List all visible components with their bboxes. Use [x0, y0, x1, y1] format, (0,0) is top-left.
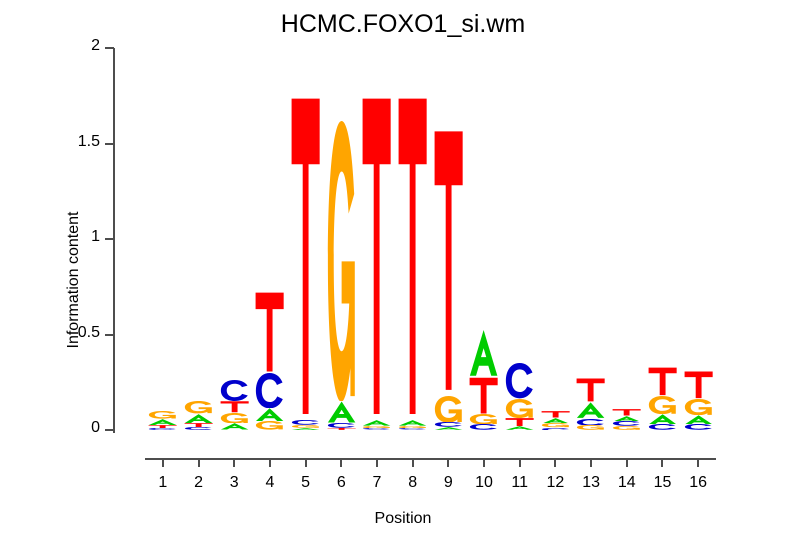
logo-letter-g	[612, 426, 641, 430]
logo-letter-t	[148, 425, 177, 428]
logo-letter-g	[291, 425, 320, 428]
x-tick	[697, 458, 699, 467]
logo-letter-c	[327, 423, 356, 428]
y-tick-label: 1	[40, 228, 100, 246]
x-tick-label: 13	[571, 474, 611, 492]
x-tick-label: 6	[321, 474, 361, 492]
logo-letter-t	[648, 367, 677, 396]
logo-stack	[505, 363, 534, 430]
logo-letter-g	[184, 401, 213, 413]
x-tick	[412, 458, 414, 467]
logo-stack	[184, 401, 213, 430]
x-tick-label: 8	[393, 474, 433, 492]
x-tick-label: 9	[428, 474, 468, 492]
x-tick-label: 4	[250, 474, 290, 492]
y-tick	[105, 47, 114, 49]
logo-letter-a	[469, 329, 498, 377]
logo-letter-c	[469, 424, 498, 430]
logo-letter-t	[684, 371, 713, 399]
logo-letter-g	[327, 121, 356, 402]
logo-letter-g	[576, 425, 605, 430]
logo-letter-g	[541, 423, 570, 427]
x-tick	[554, 458, 556, 467]
logo-stack	[648, 367, 677, 430]
logo-letter-g	[220, 413, 249, 424]
logo-stack	[291, 92, 320, 430]
logo-stack	[612, 409, 641, 430]
logo-letter-c	[184, 427, 213, 430]
logo-letter-t	[362, 92, 391, 421]
y-tick-label: 0.5	[40, 324, 100, 342]
y-tick	[105, 334, 114, 336]
logo-letter-a	[434, 427, 463, 430]
logo-stack	[541, 411, 570, 430]
logo-stack	[362, 92, 391, 430]
logo-letter-a	[362, 420, 391, 426]
logo-letter-a	[684, 415, 713, 425]
y-tick	[105, 429, 114, 431]
logo-letter-a	[541, 418, 570, 424]
x-tick	[447, 458, 449, 467]
logo-stack	[255, 291, 284, 430]
x-tick-label: 7	[357, 474, 397, 492]
logo-letter-t	[434, 126, 463, 395]
logo-letter-a	[398, 420, 427, 426]
x-tick	[590, 458, 592, 467]
logo-letter-a	[291, 428, 320, 430]
x-tick	[340, 458, 342, 467]
logo-letter-c	[362, 428, 391, 430]
x-tick	[305, 458, 307, 467]
logo-letter-a	[220, 423, 249, 430]
logo-letter-a	[184, 414, 213, 423]
y-tick	[105, 143, 114, 145]
logo-letter-c	[505, 363, 534, 398]
logo-letter-c	[220, 380, 249, 401]
x-tick-label: 14	[607, 474, 647, 492]
logo-stack	[398, 92, 427, 430]
logo-letter-a	[327, 401, 356, 423]
logo-letter-t	[327, 428, 356, 430]
x-tick	[376, 458, 378, 467]
logo-letter-c	[398, 428, 427, 430]
x-tick-label: 16	[678, 474, 718, 492]
y-axis-label-wrap: Information content	[28, 0, 52, 559]
y-tick	[105, 238, 114, 240]
logo-letter-a	[576, 402, 605, 418]
logo-letter-g	[648, 396, 677, 414]
logo-letter-c	[541, 428, 570, 430]
logo-letter-t	[505, 418, 534, 427]
logo-letter-t	[576, 378, 605, 402]
logo-letter-c	[684, 424, 713, 430]
x-tick-label: 15	[642, 474, 682, 492]
y-tick-label: 0	[40, 419, 100, 437]
logo-letter-g	[505, 399, 534, 418]
logo-letter-g	[255, 421, 284, 430]
logo-letter-c	[148, 428, 177, 430]
logo-letter-t	[220, 401, 249, 412]
logo-stack	[327, 121, 356, 430]
x-axis-label: Position	[0, 510, 806, 528]
logo-letter-g	[148, 411, 177, 419]
x-tick	[269, 458, 271, 467]
page-title: HCMC.FOXO1_si.wm	[0, 10, 806, 39]
x-tick	[626, 458, 628, 467]
logo-stack	[576, 378, 605, 430]
logo-stack	[469, 329, 498, 430]
logo-letter-c	[576, 419, 605, 426]
logo-letter-g	[362, 426, 391, 428]
logo-letter-g	[469, 414, 498, 425]
logo-letter-t	[541, 411, 570, 418]
logo-letter-t	[255, 291, 284, 373]
logo-letter-c	[434, 422, 463, 427]
x-tick-label: 3	[214, 474, 254, 492]
x-axis-line	[145, 458, 716, 460]
logo-letter-c	[648, 424, 677, 430]
y-tick-label: 1.5	[40, 133, 100, 151]
logo-letter-g	[398, 426, 427, 428]
logo-letter-t	[398, 92, 427, 421]
sequence-logo-plot: HCMC.FOXO1_si.wm Information content 00.…	[0, 0, 806, 559]
logo-stack	[684, 371, 713, 430]
x-tick-label: 2	[179, 474, 219, 492]
logo-stack	[434, 126, 463, 430]
logo-letter-g	[434, 396, 463, 423]
logo-stack	[220, 380, 249, 430]
logo-letter-a	[505, 426, 534, 430]
logo-letter-a	[612, 416, 641, 422]
x-tick	[198, 458, 200, 467]
x-tick	[519, 458, 521, 467]
logo-letter-t	[469, 377, 498, 414]
x-tick	[162, 458, 164, 467]
logo-letter-c	[291, 420, 320, 425]
logo-letter-t	[184, 423, 213, 427]
x-tick-label: 5	[286, 474, 326, 492]
logo-letter-a	[648, 414, 677, 425]
y-axis-line	[113, 48, 115, 433]
x-tick	[661, 458, 663, 467]
logo-stack	[148, 411, 177, 430]
logo-letter-t	[612, 409, 641, 416]
logo-letter-c	[612, 421, 641, 426]
logo-letter-a	[255, 408, 284, 421]
y-axis-label: Information content	[65, 130, 83, 430]
x-tick-label: 10	[464, 474, 504, 492]
x-tick-label: 12	[535, 474, 575, 492]
y-tick-label: 2	[40, 37, 100, 55]
logo-letter-a	[148, 419, 177, 425]
logo-letter-g	[684, 399, 713, 415]
x-tick	[233, 458, 235, 467]
x-tick-label: 1	[143, 474, 183, 492]
x-tick-label: 11	[500, 474, 540, 492]
logo-letter-t	[291, 92, 320, 421]
x-tick	[483, 458, 485, 467]
logo-letter-c	[255, 373, 284, 408]
